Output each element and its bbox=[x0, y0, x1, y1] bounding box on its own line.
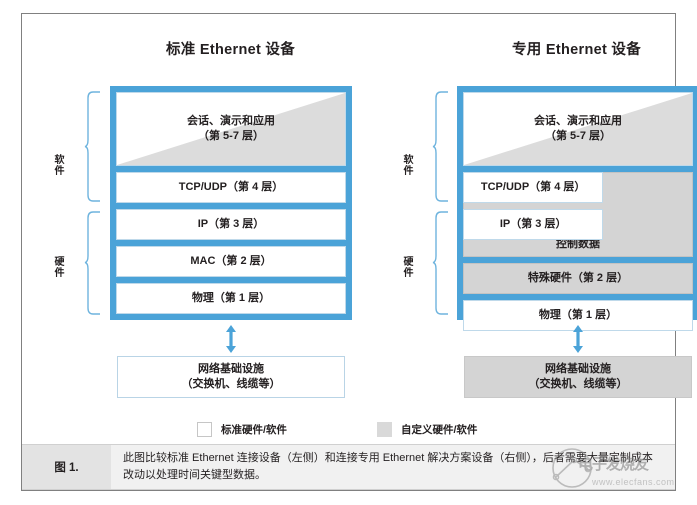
right-layer-application-line2: （第 5-7 层） bbox=[545, 130, 611, 142]
left-layer-mac-label: MAC（第 2 层） bbox=[190, 254, 271, 269]
figure-caption: 图 1. 此图比较标准 Ethernet 连接设备（左侧）和连接专用 Ether… bbox=[22, 444, 675, 490]
right-layer-tcp-udp: TCP/UDP（第 4 层） bbox=[463, 172, 603, 203]
figure-caption-body: 此图比较标准 Ethernet 连接设备（左侧）和连接专用 Ethernet 解… bbox=[111, 445, 675, 489]
left-layer-tcp-udp: TCP/UDP（第 4 层） bbox=[116, 172, 346, 203]
left-layer-tcp-udp-label: TCP/UDP（第 4 层） bbox=[179, 180, 284, 195]
left-network-infrastructure-box: 网络基础设施 （交换机、线缆等） bbox=[117, 356, 345, 398]
right-hardware-brace-icon bbox=[432, 210, 450, 316]
left-software-brace-icon bbox=[84, 90, 102, 203]
right-hardware-bracket-label: 硬件 bbox=[401, 256, 411, 278]
right-bidirectional-arrow-icon bbox=[572, 325, 584, 353]
left-hardware-brace-icon bbox=[84, 210, 102, 316]
figure-caption-number: 图 1. bbox=[22, 445, 111, 489]
legend-item-custom: 自定义硬件/软件 bbox=[377, 422, 477, 437]
right-column-title: 专用 Ethernet 设备 bbox=[454, 38, 697, 59]
legend-label-standard: 标准硬件/软件 bbox=[221, 422, 287, 437]
right-infra-line1: 网络基础设施 bbox=[545, 363, 611, 375]
left-layer-physical: 物理（第 1 层） bbox=[116, 283, 346, 314]
right-layer-tcp-udp-label: TCP/UDP（第 4 层） bbox=[481, 180, 586, 195]
right-layer-application-line1: 会话、演示和应用 bbox=[534, 115, 622, 127]
figure-caption-line1: 此图比较标准 Ethernet 连接设备（左侧）和连接专用 Ethernet 解… bbox=[123, 452, 653, 464]
legend-label-custom: 自定义硬件/软件 bbox=[401, 422, 477, 437]
right-layer-special-hardware: 特殊硬件（第 2 层） bbox=[463, 263, 693, 294]
left-infra-line2: （交换机、线缆等） bbox=[182, 378, 281, 390]
right-layer-special-hardware-label: 特殊硬件（第 2 层） bbox=[528, 271, 628, 286]
right-infra-line2: （交换机、线缆等） bbox=[529, 378, 628, 390]
right-network-infrastructure-box: 网络基础设施 （交换机、线缆等） bbox=[464, 356, 692, 398]
right-layer-application: 会话、演示和应用 （第 5-7 层） bbox=[463, 92, 693, 166]
left-device-stack: 会话、演示和应用 （第 5-7 层） TCP/UDP（第 4 层） IP（第 3… bbox=[110, 86, 352, 320]
legend: 标准硬件/软件 自定义硬件/软件 bbox=[197, 422, 597, 440]
left-column-title: 标准 Ethernet 设备 bbox=[108, 38, 353, 59]
left-layer-ip: IP（第 3 层） bbox=[116, 209, 346, 240]
legend-item-standard: 标准硬件/软件 bbox=[197, 422, 287, 437]
left-layer-ip-label: IP（第 3 层） bbox=[198, 217, 265, 232]
legend-swatch-standard-icon bbox=[197, 422, 212, 437]
left-layer-application: 会话、演示和应用 （第 5-7 层） bbox=[116, 92, 346, 166]
left-infra-line1: 网络基础设施 bbox=[198, 363, 264, 375]
left-hardware-bracket-label: 硬件 bbox=[52, 256, 62, 278]
right-layer-ip: IP（第 3 层） bbox=[463, 209, 603, 240]
left-layer-mac: MAC（第 2 层） bbox=[116, 246, 346, 277]
left-layer-application-line1: 会话、演示和应用 bbox=[187, 115, 275, 127]
right-layer-physical-label: 物理（第 1 层） bbox=[539, 308, 617, 323]
right-control-data-zone: 控制数据 TCP/UDP（第 4 层） IP（第 3 层） bbox=[463, 172, 693, 257]
right-device-stack: 会话、演示和应用 （第 5-7 层） 控制数据 TCP/UDP（第 4 层） I… bbox=[457, 86, 697, 320]
left-software-bracket-label: 软件 bbox=[52, 154, 62, 176]
left-layer-application-line2: （第 5-7 层） bbox=[198, 130, 264, 142]
right-software-brace-icon bbox=[432, 90, 450, 203]
legend-swatch-custom-icon bbox=[377, 422, 392, 437]
figure-frame: 标准 Ethernet 设备 专用 Ethernet 设备 软件 硬件 会话、演… bbox=[21, 13, 676, 491]
left-layer-physical-label: 物理（第 1 层） bbox=[192, 291, 270, 306]
left-bidirectional-arrow-icon bbox=[225, 325, 237, 353]
figure-caption-line2: 改动以处理时间关键型数据。 bbox=[123, 469, 266, 481]
right-software-bracket-label: 软件 bbox=[401, 154, 411, 176]
right-layer-ip-label: IP（第 3 层） bbox=[500, 217, 567, 232]
